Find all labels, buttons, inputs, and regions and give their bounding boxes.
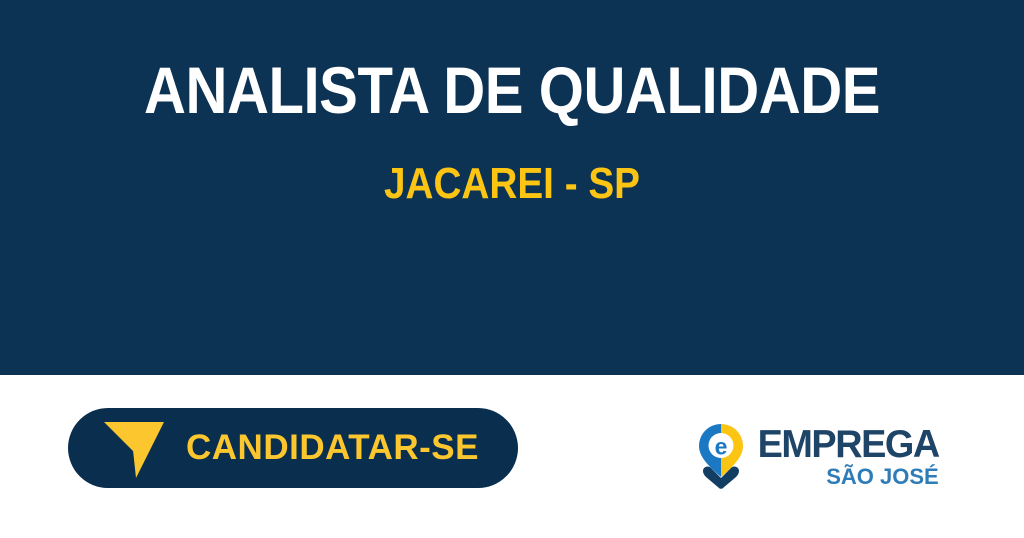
brand-name: EMPREGA (758, 425, 939, 464)
apply-button[interactable]: CANDIDATAR-SE (68, 408, 518, 488)
job-posting-card: ANALISTA DE QUALIDADE JACAREI - SP CANDI… (0, 0, 1024, 538)
brand-logo[interactable]: e EMPREGA SÃO JOSÉ (698, 420, 903, 492)
apply-button-label: CANDIDATAR-SE (186, 428, 479, 468)
map-pin-icon: e (698, 423, 744, 489)
svg-text:e: e (715, 434, 728, 460)
brand-wordmark: EMPREGA SÃO JOSÉ (752, 425, 939, 488)
job-title: ANALISTA DE QUALIDADE (61, 55, 962, 125)
send-plane-icon (102, 416, 166, 480)
footer-bar: CANDIDATAR-SE (0, 375, 1024, 538)
job-location: JACAREI - SP (61, 160, 962, 208)
hero-banner: ANALISTA DE QUALIDADE JACAREI - SP (0, 0, 1024, 375)
brand-city: SÃO JOSÉ (826, 466, 938, 488)
